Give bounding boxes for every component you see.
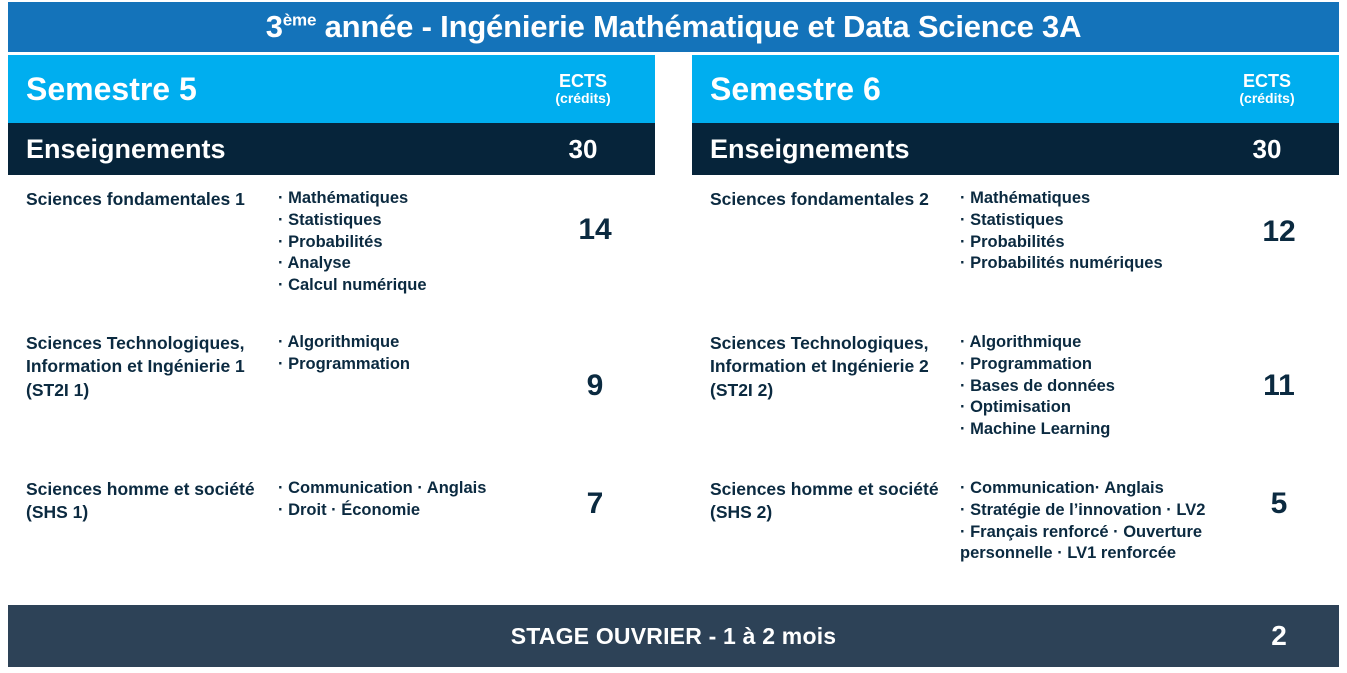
table-row: Sciences fondamentales 1 · Mathématiques… <box>8 185 655 329</box>
list-item: · Mathématiques <box>278 188 535 210</box>
list-item: · Stratégie de l’innovation · LV2 <box>960 500 1219 522</box>
list-item: · Mathématiques <box>960 188 1219 210</box>
teaching-label-6: Enseignements <box>710 134 1207 165</box>
list-item: · Probabilités <box>278 232 535 254</box>
ects-sub-label: (crédits) <box>1207 91 1327 106</box>
semester-column-5: Semestre 5 ECTS (crédits) Enseignements … <box>8 55 655 595</box>
semester-column-6: Semestre 6 ECTS (crédits) Enseignements … <box>692 55 1339 595</box>
ects-main-label: ECTS <box>523 72 643 91</box>
semester-title-5: Semestre 5 <box>26 71 523 108</box>
list-item: · Algorithmique <box>278 332 535 354</box>
row-course-list: · Mathématiques · Statistiques · Probabi… <box>960 185 1219 275</box>
semester-header-5: Semestre 5 ECTS (crédits) <box>8 55 655 123</box>
teaching-label-5: Enseignements <box>26 134 523 165</box>
page-title-superscript: ème <box>283 11 316 30</box>
list-item: · Probabilités numériques <box>960 253 1219 275</box>
row-credits: 7 <box>535 475 655 521</box>
list-item: · Français renforcé · Ouverture personne… <box>960 522 1219 566</box>
row-module-name: Sciences Technologiques, Information et … <box>26 329 278 402</box>
list-item: · Calcul numérique <box>278 275 535 297</box>
row-credits: 11 <box>1219 329 1339 403</box>
ects-label-5: ECTS (crédits) <box>523 72 643 106</box>
table-row: Sciences homme et société (SHS 2) · Comm… <box>692 475 1339 585</box>
row-credits: 12 <box>1219 185 1339 249</box>
teaching-credits-5: 30 <box>523 134 643 165</box>
list-item: · Statistiques <box>278 210 535 232</box>
list-item: · Optimisation <box>960 397 1219 419</box>
table-row: Sciences homme et société (SHS 1) · Comm… <box>8 475 655 585</box>
row-credits: 5 <box>1219 475 1339 521</box>
course-rows-5: Sciences fondamentales 1 · Mathématiques… <box>8 175 655 585</box>
list-item: · Communication · Anglais <box>278 478 535 500</box>
row-module-name: Sciences homme et société (SHS 2) <box>710 475 960 525</box>
table-row: Sciences Technologiques, Information et … <box>692 329 1339 475</box>
list-item: · Droit · Économie <box>278 500 535 522</box>
page-title: 3ème année - Ingénierie Mathématique et … <box>266 9 1082 45</box>
table-row: Sciences fondamentales 2 · Mathématiques… <box>692 185 1339 329</box>
teaching-credits-6: 30 <box>1207 134 1327 165</box>
row-course-list: · Algorithmique · Programmation <box>278 329 535 376</box>
page-title-rest: année - Ingénierie Mathématique et Data … <box>316 9 1081 44</box>
row-course-list: · Communication · Anglais · Droit · Écon… <box>278 475 535 522</box>
semester-header-6: Semestre 6 ECTS (crédits) <box>692 55 1339 123</box>
row-course-list: · Mathématiques · Statistiques · Probabi… <box>278 185 535 297</box>
list-item: · Programmation <box>278 354 535 376</box>
row-credits: 14 <box>535 185 655 247</box>
course-rows-6: Sciences fondamentales 2 · Mathématiques… <box>692 175 1339 585</box>
program-curriculum-table: 3ème année - Ingénierie Mathématique et … <box>0 0 1347 673</box>
internship-credits: 2 <box>1219 620 1339 652</box>
list-item: · Probabilités <box>960 232 1219 254</box>
row-module-name: Sciences fondamentales 1 <box>26 185 278 211</box>
list-item: · Communication· Anglais <box>960 478 1219 500</box>
semester-title-6: Semestre 6 <box>710 71 1207 108</box>
row-module-name: Sciences fondamentales 2 <box>710 185 960 211</box>
row-course-list: · Algorithmique · Programmation · Bases … <box>960 329 1219 441</box>
semesters-container: Semestre 5 ECTS (crédits) Enseignements … <box>8 55 1339 595</box>
list-item: · Programmation <box>960 354 1219 376</box>
list-item: · Statistiques <box>960 210 1219 232</box>
internship-bar: STAGE OUVRIER - 1 à 2 mois 2 <box>8 605 1339 667</box>
page-title-bar: 3ème année - Ingénierie Mathématique et … <box>8 2 1339 52</box>
list-item: · Machine Learning <box>960 419 1219 441</box>
row-module-name: Sciences Technologiques, Information et … <box>710 329 960 402</box>
table-row: Sciences Technologiques, Information et … <box>8 329 655 475</box>
teaching-header-5: Enseignements 30 <box>8 123 655 175</box>
row-module-name: Sciences homme et société (SHS 1) <box>26 475 278 525</box>
teaching-header-6: Enseignements 30 <box>692 123 1339 175</box>
ects-label-6: ECTS (crédits) <box>1207 72 1327 106</box>
row-credits: 9 <box>535 329 655 403</box>
ects-sub-label: (crédits) <box>523 91 643 106</box>
internship-label: STAGE OUVRIER - 1 à 2 mois <box>128 623 1219 650</box>
ects-main-label: ECTS <box>1207 72 1327 91</box>
list-item: · Bases de données <box>960 376 1219 398</box>
row-course-list: · Communication· Anglais · Stratégie de … <box>960 475 1219 565</box>
page-title-prefix: 3 <box>266 9 283 44</box>
list-item: · Analyse <box>278 253 535 275</box>
list-item: · Algorithmique <box>960 332 1219 354</box>
